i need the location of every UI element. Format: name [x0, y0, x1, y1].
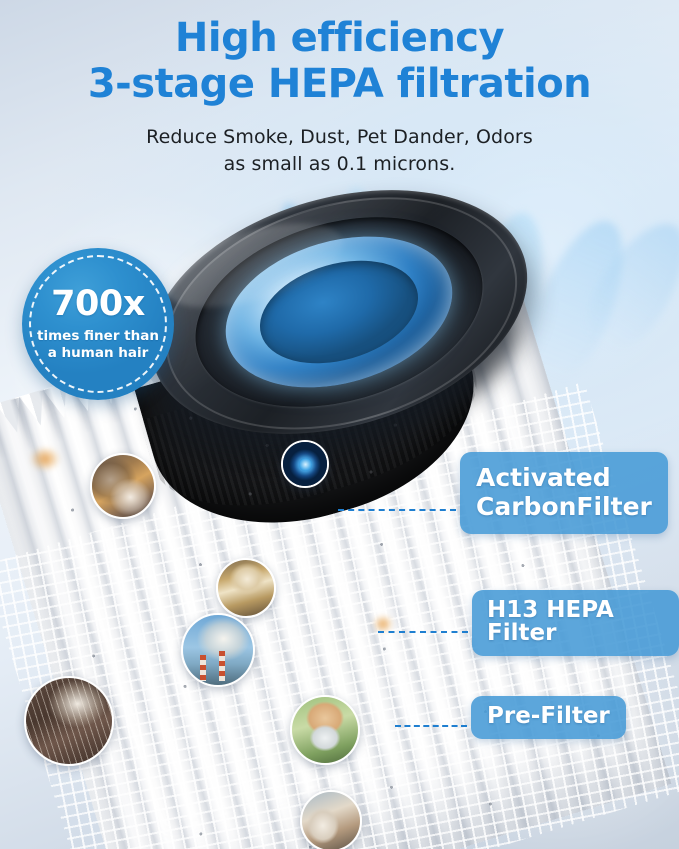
- callout-label-pre-filter: Pre-Filter: [471, 696, 626, 739]
- leader-line: [338, 509, 456, 511]
- subtitle: Reduce Smoke, Dust, Pet Dander, Odors as…: [0, 124, 679, 178]
- fineness-badge: 700x times finer than a human hair: [22, 248, 174, 400]
- masked-person-photo-icon: [290, 695, 360, 765]
- chimney: [219, 651, 225, 681]
- callout-pre-filter: Pre-Filter: [395, 696, 626, 739]
- pet-hair-photo-icon: [24, 676, 114, 766]
- product-infographic: High efficiency 3-stage HEPA filtration …: [0, 0, 679, 849]
- chimney: [200, 655, 206, 681]
- callout-label-h13-hepa: H13 HEPA Filter: [472, 590, 679, 656]
- fineness-badge-caption-line-2: a human hair: [37, 345, 159, 362]
- fineness-badge-value: 700x: [51, 287, 145, 322]
- carbon-molecule-icon: [281, 440, 329, 488]
- callout-label-activated-carbon: Activated CarbonFilter: [460, 452, 668, 534]
- subtitle-line-1: Reduce Smoke, Dust, Pet Dander, Odors: [0, 124, 679, 151]
- fineness-badge-caption-line-1: times finer than: [37, 328, 159, 345]
- leader-line: [378, 631, 468, 633]
- dust-debris-photo-icon: [216, 558, 276, 618]
- callout-activated-carbon: Activated CarbonFilter: [338, 452, 668, 534]
- headline: High efficiency 3-stage HEPA filtration: [0, 18, 679, 105]
- smokestack-photo-icon: [181, 613, 255, 687]
- molecule-node: [299, 458, 312, 471]
- dust-stain: [25, 443, 65, 475]
- subtitle-line-2: as small as 0.1 microns.: [0, 151, 679, 178]
- leader-line: [395, 725, 467, 727]
- smoke-photo-icon: [90, 453, 156, 519]
- hair-strands: [26, 678, 112, 764]
- person-with-dog-photo-icon: [300, 790, 362, 849]
- headline-line-2: 3-stage HEPA filtration: [0, 64, 679, 106]
- headline-line-1: High efficiency: [0, 18, 679, 60]
- callout-h13-hepa: H13 HEPA Filter: [378, 590, 679, 656]
- fineness-badge-caption: times finer than a human hair: [37, 328, 159, 361]
